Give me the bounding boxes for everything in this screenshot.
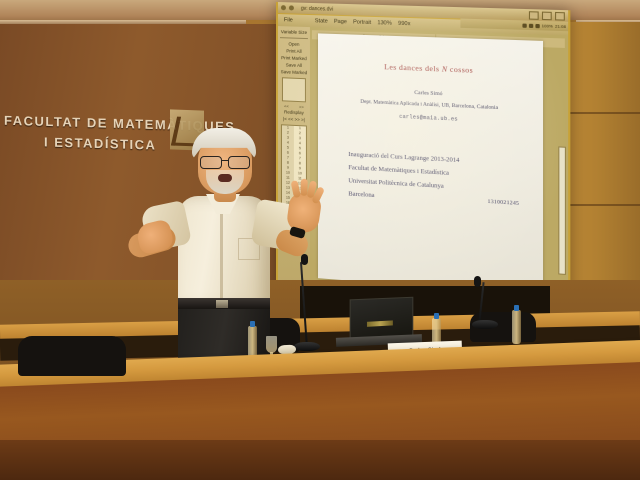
slide-city: Barcelona — [348, 190, 374, 199]
wall-right-panels — [560, 22, 640, 312]
speaker-person — [120, 120, 350, 370]
slide-page: Les dances dels N cossos Carles Simó Dep… — [318, 33, 543, 295]
sidebar-action-save-marked[interactable]: Save Marked — [279, 68, 309, 76]
sidebar-zoom-in-button[interactable]: >> — [299, 104, 304, 109]
slide-title-tail: cossos — [447, 65, 473, 75]
menu-item-orientation[interactable]: Portrait — [353, 19, 371, 26]
chair-left — [18, 336, 126, 376]
speaker-glasses — [200, 156, 250, 167]
mail-icon[interactable] — [535, 23, 539, 27]
drinking-glass — [266, 336, 277, 353]
glasses-right-lens — [228, 156, 250, 169]
volume-icon[interactable] — [529, 23, 533, 27]
window-minimize-button[interactable] — [529, 11, 539, 20]
window-title: gv: dances.dvi — [301, 5, 333, 12]
window-shade-icon[interactable] — [289, 5, 294, 10]
microphone-head-right — [474, 276, 481, 287]
finger-1 — [291, 180, 301, 198]
window-close-button[interactable] — [555, 11, 565, 20]
menu-item-page[interactable]: Page — [334, 19, 347, 25]
slide-title: Les dances dels N cossos — [328, 60, 532, 77]
window-maximize-button[interactable] — [542, 11, 552, 20]
slide-event-block: Inauguració del Curs Lagrange 2013-2014 … — [328, 147, 532, 212]
microphone-base-right — [472, 320, 498, 329]
speaker-mouth — [218, 174, 232, 182]
menu-item-file[interactable]: File — [284, 17, 293, 23]
sidebar-page-thumbnail[interactable] — [282, 77, 306, 102]
glasses-left-lens — [200, 156, 222, 169]
sidebar-divider-1 — [280, 37, 308, 39]
menu-item-papersize[interactable]: 990x — [398, 21, 410, 28]
water-bottle-right — [512, 310, 521, 344]
slide-email: carles@maia.ub.es — [328, 110, 532, 126]
window-menu-icon[interactable] — [281, 5, 286, 10]
network-icon[interactable] — [522, 23, 526, 27]
microphone-base-left — [294, 342, 320, 351]
vertical-scrollbar[interactable] — [558, 146, 566, 275]
belt-buckle — [216, 300, 228, 308]
shirt-placket — [220, 208, 223, 300]
sidebar-zoom-out-button[interactable]: << — [284, 103, 289, 108]
systray-clock: 21:08 — [555, 23, 566, 29]
systray-battery: 100% — [542, 23, 553, 29]
laptop-screen-content — [367, 320, 393, 326]
menu-item-state[interactable]: State — [315, 18, 328, 24]
microphone-head-left — [301, 254, 308, 265]
slide-doc-code: 1310021245 — [488, 196, 520, 211]
floor — [0, 440, 640, 480]
slide-title-head: Les dances dels — [384, 62, 442, 73]
lecture-hall-photo: FACULTAT DE MATEMÀTIQUES I ESTADÍSTICA g… — [0, 0, 640, 480]
sidebar-header: Variable Size — [279, 28, 309, 36]
menu-item-zoom[interactable]: 130% — [377, 20, 392, 27]
